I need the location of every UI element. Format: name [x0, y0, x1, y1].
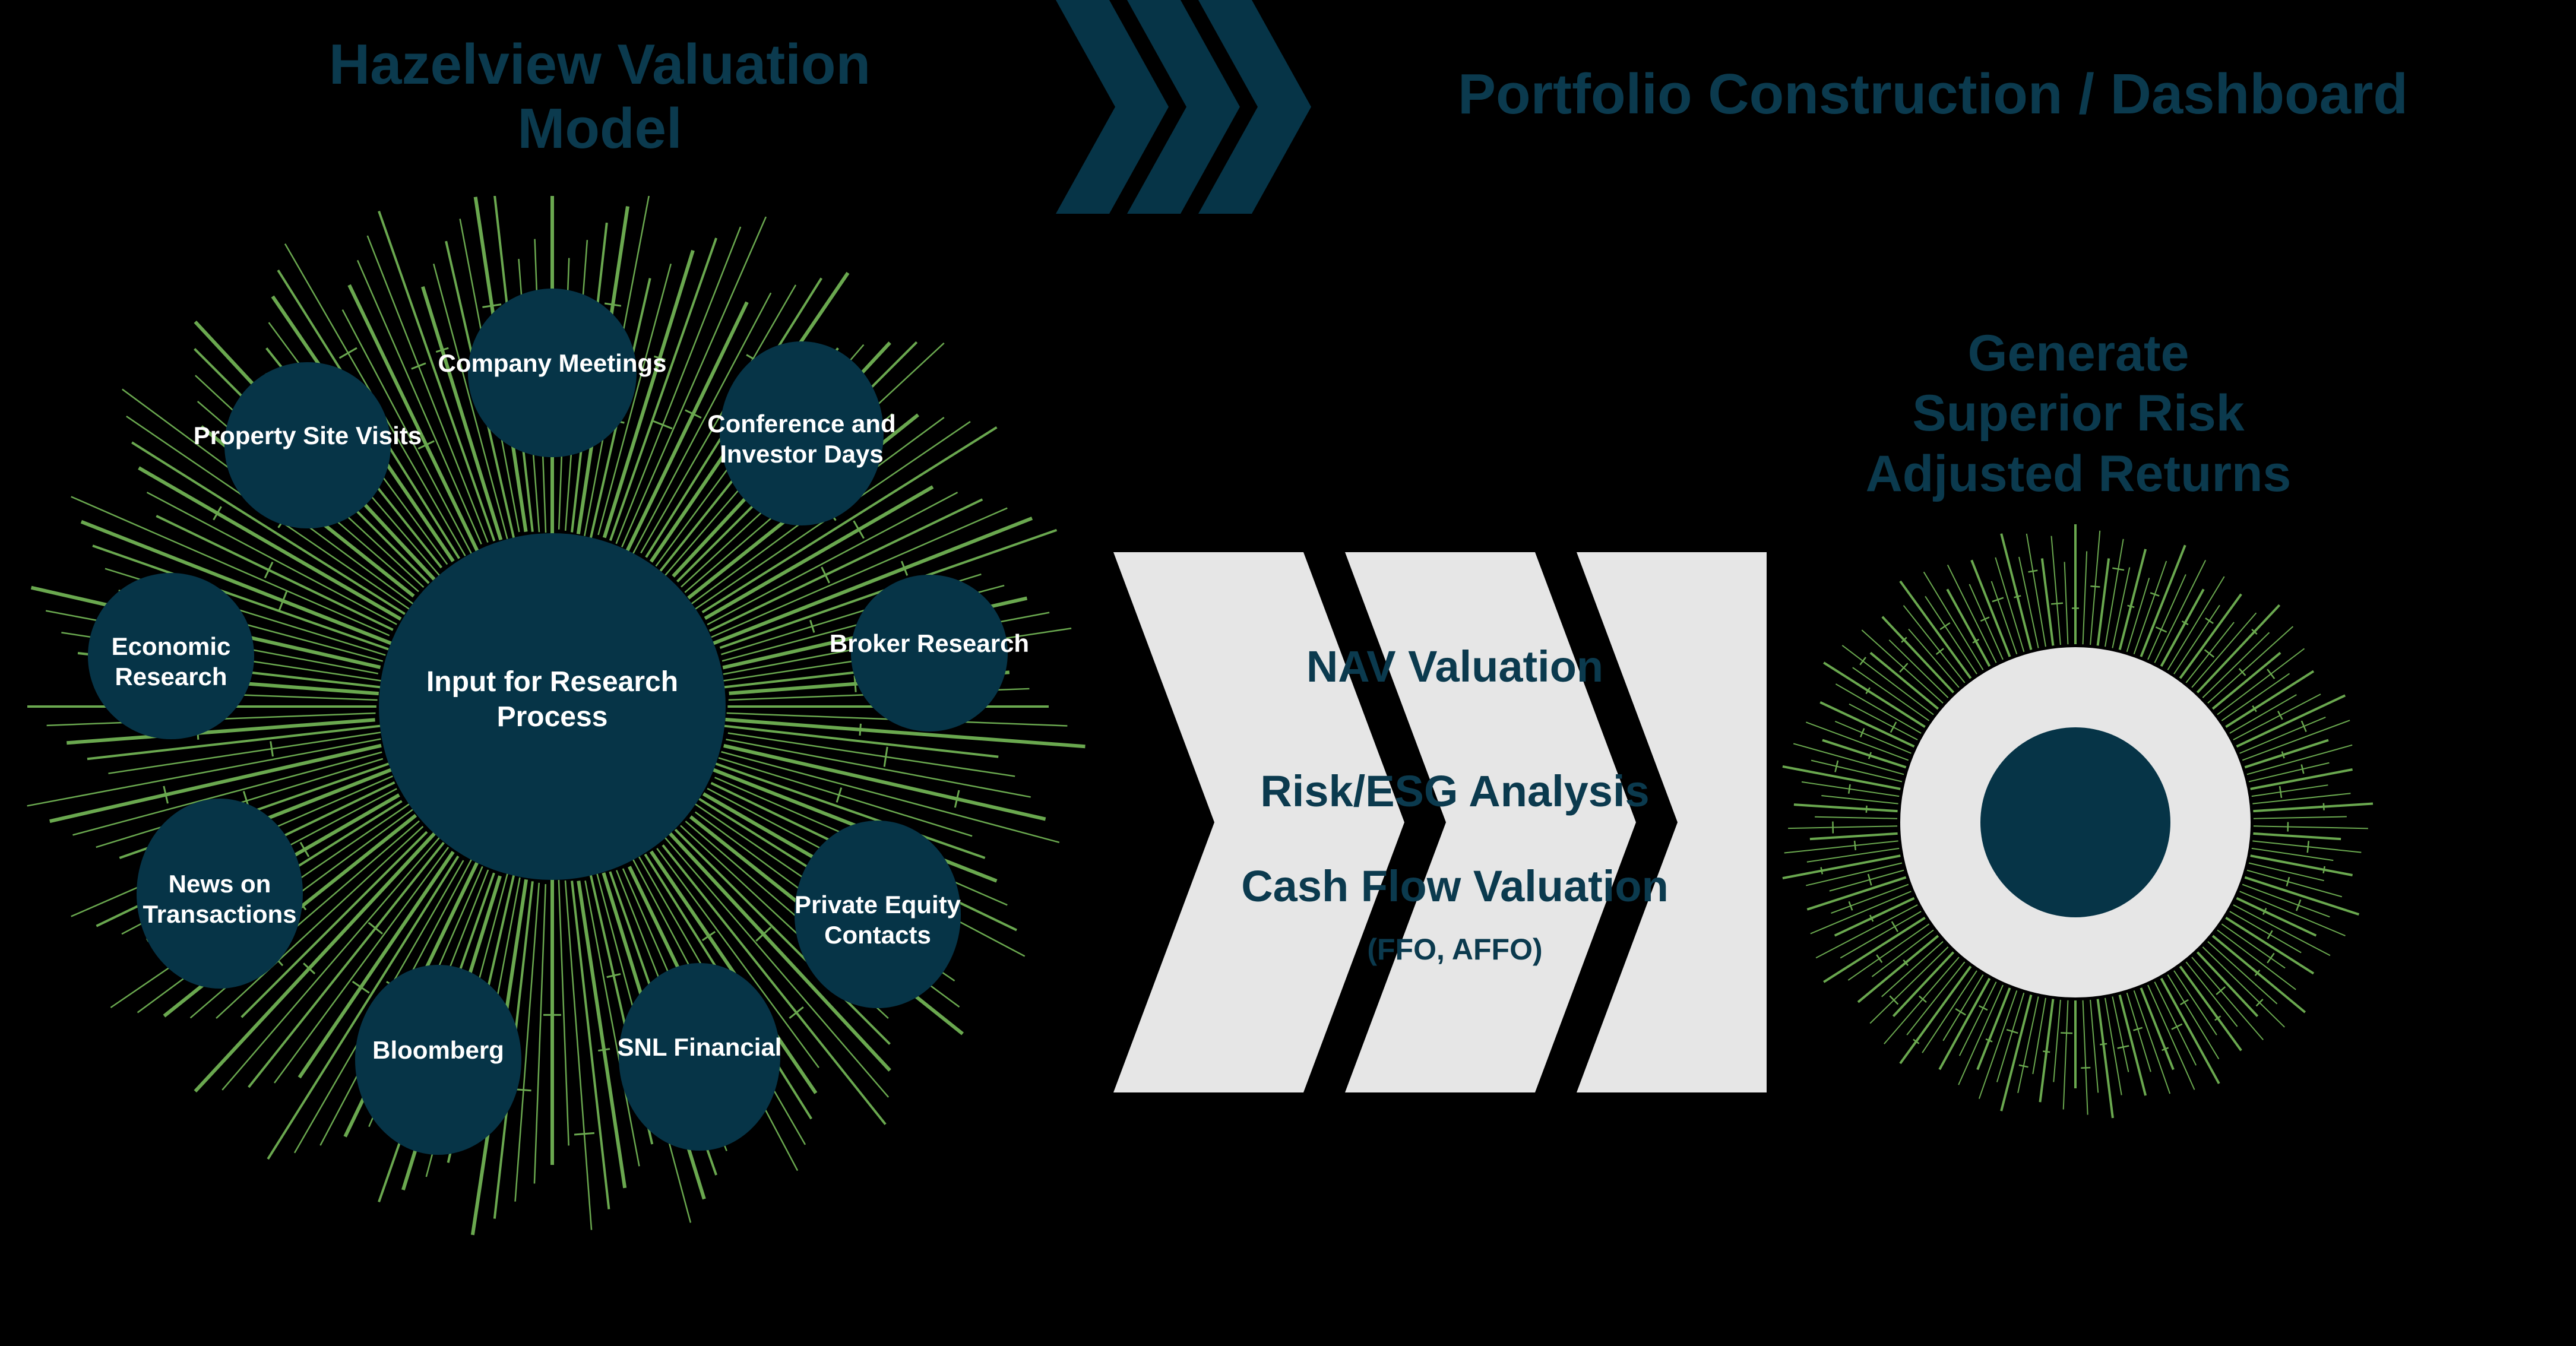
outcome-donut-burst-icon: [1776, 522, 2375, 1122]
slide-canvas: Hazelview Valuation Model Portfolio Cons…: [0, 0, 2576, 1346]
wheel-node-1[interactable]: [720, 341, 884, 525]
wheel-node-4[interactable]: [619, 963, 780, 1151]
wheel-node-0[interactable]: [468, 289, 637, 457]
wheel-node-7[interactable]: [88, 573, 254, 739]
research-input-wheel: [0, 196, 1116, 1346]
wheel-node-2[interactable]: [851, 575, 1008, 731]
stage-1-label: NAV Valuation: [1146, 641, 1764, 692]
wheel-node-6[interactable]: [137, 799, 303, 989]
wheel-node-3[interactable]: [795, 821, 961, 1008]
wheel-center-circle[interactable]: [379, 533, 726, 880]
page-title-right: Portfolio Construction / Dashboard: [1324, 62, 2542, 126]
chevron-stage-1[interactable]: [1113, 552, 1404, 1092]
outcome-title: Generate Superior Risk Adjusted Returns: [1865, 324, 2292, 504]
wheel-node-8[interactable]: [224, 362, 391, 528]
stage-3-label: Cash Flow Valuation: [1081, 861, 1829, 912]
donut-core[interactable]: [1980, 727, 2170, 917]
valuation-stage-chevrons: [1107, 546, 1767, 1098]
wheel-node-5[interactable]: [355, 965, 521, 1155]
stage-3-sublabel: (FFO, AFFO): [1146, 932, 1764, 967]
triple-chevron-right-icon: [1056, 0, 1317, 214]
stage-2-label: Risk/ESG Analysis: [1146, 766, 1764, 817]
page-title-left: Hazelview Valuation Model: [249, 33, 950, 160]
